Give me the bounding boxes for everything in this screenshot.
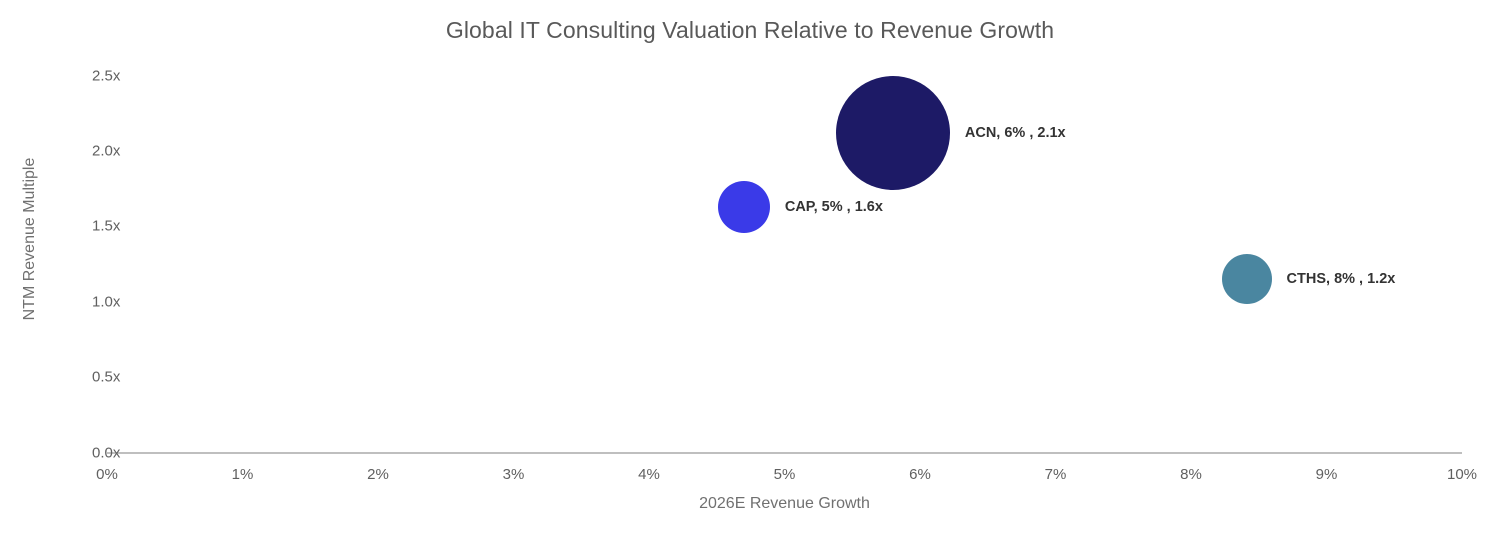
bubble-cap[interactable] bbox=[718, 181, 770, 233]
x-tick-label-6%: 6% bbox=[909, 466, 931, 483]
x-axis-title: 2026E Revenue Growth bbox=[107, 495, 1462, 513]
bubble-acn[interactable] bbox=[836, 76, 950, 190]
y-axis-title: NTM Revenue Multiple bbox=[21, 89, 39, 389]
x-tick-label-8%: 8% bbox=[1180, 466, 1202, 483]
x-tick-label-4%: 4% bbox=[638, 466, 660, 483]
bubble-label-cap: CAP, 5% , 1.6x bbox=[785, 199, 883, 215]
bubble-cths[interactable] bbox=[1222, 254, 1272, 304]
x-tick-label-10%: 10% bbox=[1447, 466, 1477, 483]
x-tick-label-2%: 2% bbox=[367, 466, 389, 483]
x-tick-label-9%: 9% bbox=[1316, 466, 1338, 483]
bubble-label-cths: CTHS, 8% , 1.2x bbox=[1287, 271, 1396, 287]
x-tick-label-7%: 7% bbox=[1045, 466, 1067, 483]
x-tick-label-5%: 5% bbox=[774, 466, 796, 483]
chart-title: Global IT Consulting Valuation Relative … bbox=[0, 17, 1500, 44]
x-tick-label-1%: 1% bbox=[232, 466, 254, 483]
bubble-chart: Global IT Consulting Valuation Relative … bbox=[0, 0, 1500, 545]
plot-area: ACN, 6% , 2.1xCAP, 5% , 1.6xCTHS, 8% , 1… bbox=[107, 60, 1462, 453]
x-tick-label-3%: 3% bbox=[503, 466, 525, 483]
bubble-label-acn: ACN, 6% , 2.1x bbox=[965, 125, 1066, 141]
x-tick-label-0%: 0% bbox=[96, 466, 118, 483]
